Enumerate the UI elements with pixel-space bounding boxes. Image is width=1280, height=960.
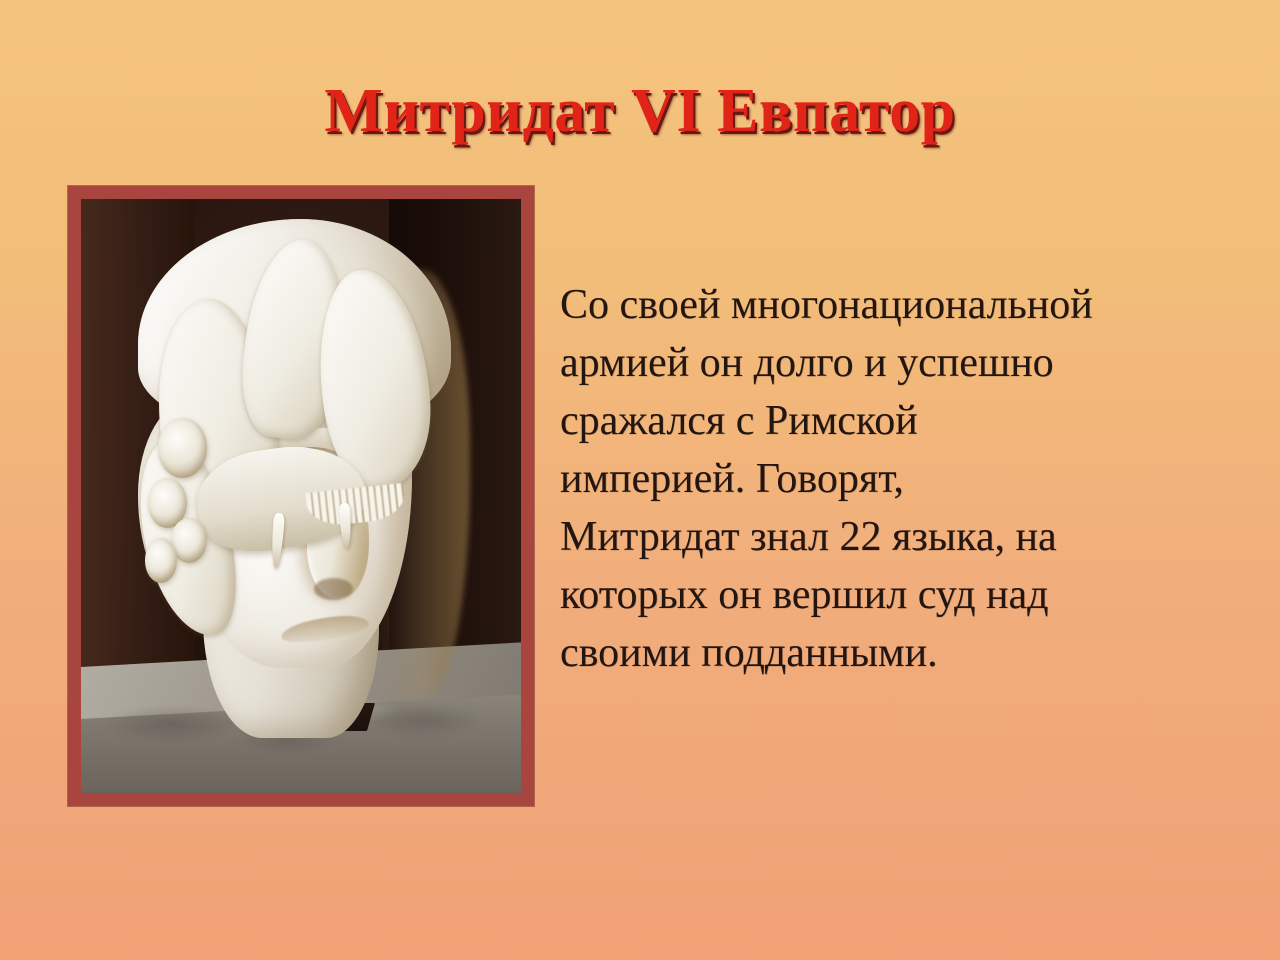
hair-curl [158, 418, 207, 478]
body-line: империей. Говорят, [560, 456, 904, 502]
body-paragraph: Со своей многонациональной армией он дол… [560, 276, 1224, 682]
image-frame [68, 186, 534, 806]
bust-photograph [81, 199, 521, 793]
presentation-slide: Митридат VI Евпатор [0, 0, 1280, 960]
body-line: своими подданными. [560, 630, 938, 676]
hair-curl [145, 538, 178, 583]
marble-bust [138, 229, 464, 728]
body-line: Со своей многонациональной [560, 282, 1093, 328]
body-line: которых он вершил суд над [560, 572, 1049, 618]
body-line: армией он долго и успешно [560, 340, 1054, 386]
body-line: сражался с Римской [560, 398, 918, 444]
page-title: Митридат VI Евпатор [0, 76, 1280, 146]
body-line: Митридат знал 22 языка, на [560, 514, 1057, 560]
